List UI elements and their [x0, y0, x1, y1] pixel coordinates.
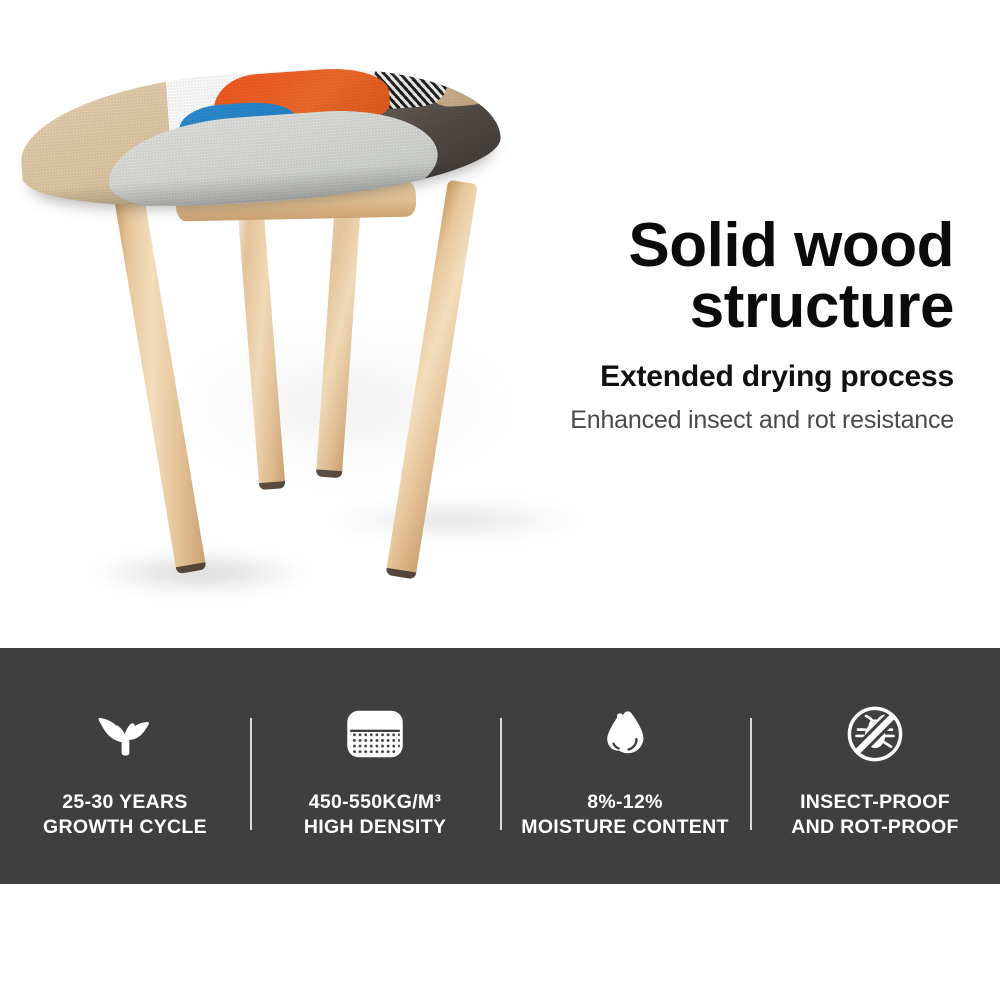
chair-seat-patchwork: [16, 55, 504, 218]
page-title: Solid wood structure: [534, 216, 954, 338]
feature-label: 25-30 YEARS GROWTH CYCLE: [43, 790, 207, 840]
hero-subheading: Extended drying process: [534, 360, 954, 394]
water-droplets-icon: [587, 698, 663, 770]
feature-label: INSECT-PROOF AND ROT-PROOF: [791, 790, 958, 840]
foam-density-block-icon: [337, 698, 413, 770]
feature-growth-cycle: 25-30 YEARS GROWTH CYCLE: [0, 648, 250, 884]
floor-shadow: [330, 500, 580, 540]
product-image-chair: [0, 0, 560, 620]
feature-moisture-content: 8%-12% MOISTURE CONTENT: [500, 648, 750, 884]
feature-bar: 25-30 YEARS GROWTH CYCLE: [0, 648, 1000, 884]
hero-copy-block: Solid wood structure Extended drying pro…: [534, 216, 954, 435]
hero-section: Solid wood structure Extended drying pro…: [0, 0, 1000, 648]
product-feature-banner: Solid wood structure Extended drying pro…: [0, 0, 1000, 1000]
no-insect-icon: [837, 698, 913, 770]
hero-tagline: Enhanced insect and rot resistance: [534, 406, 954, 435]
leaf-sprout-icon: [87, 698, 163, 770]
feature-label: 450-550KG/M³ HIGH DENSITY: [304, 790, 446, 840]
feature-label: 8%-12% MOISTURE CONTENT: [521, 790, 728, 840]
feature-high-density: 450-550KG/M³ HIGH DENSITY: [250, 648, 500, 884]
feature-insect-rot-proof: INSECT-PROOF AND ROT-PROOF: [750, 648, 1000, 884]
